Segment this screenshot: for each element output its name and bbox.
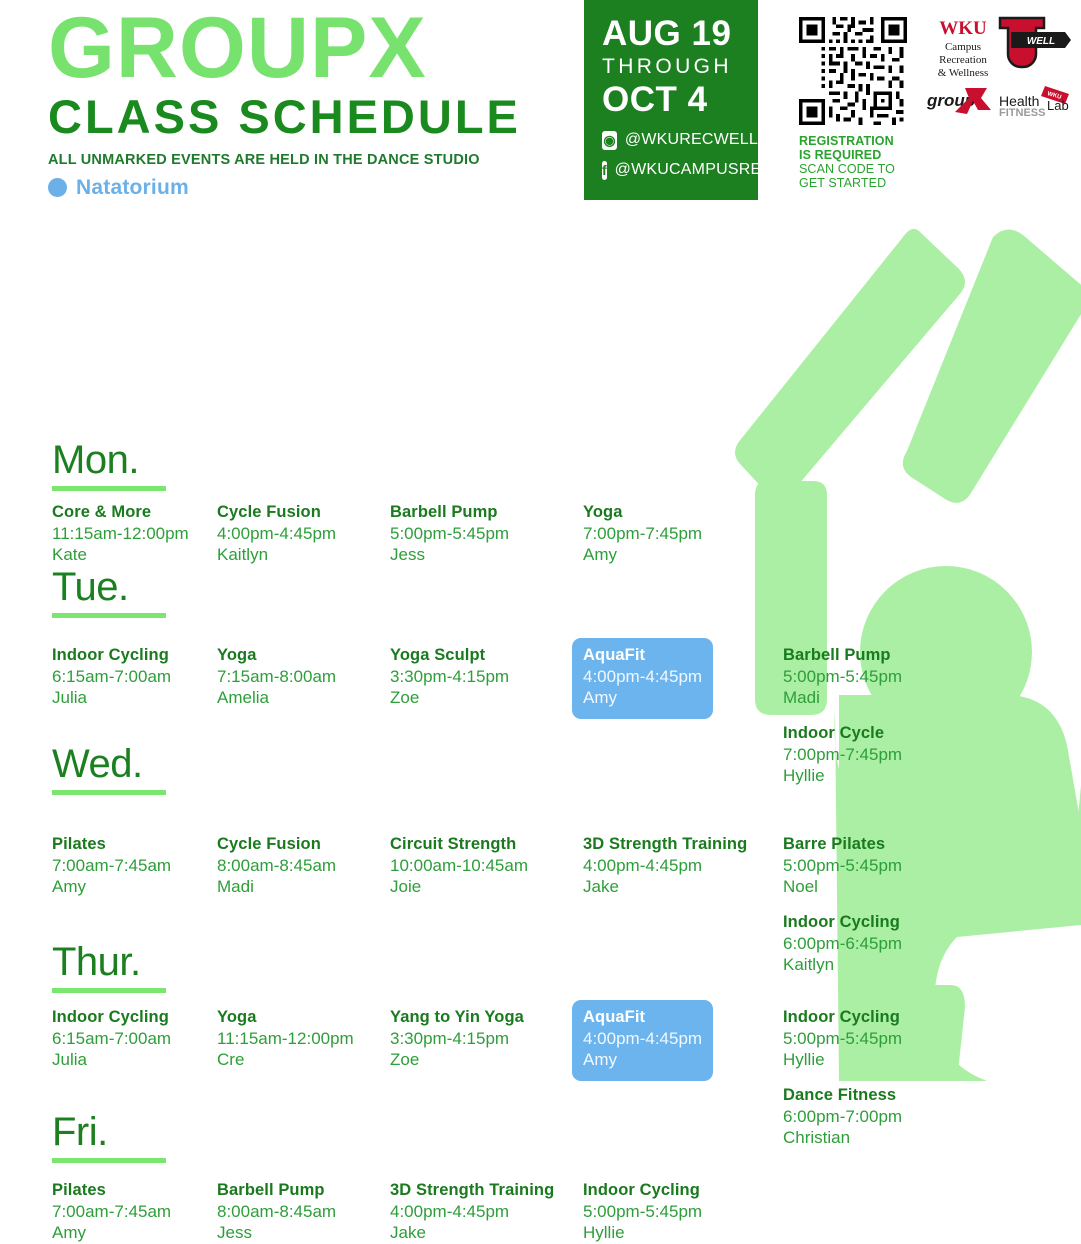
- facebook-handle: @WKUCAMPUSREC: [615, 161, 773, 179]
- class-name: Yoga Sculpt: [390, 645, 509, 666]
- class-instructor: Madi: [783, 687, 902, 709]
- class-name: Indoor Cycle: [783, 723, 902, 744]
- class-cell[interactable]: AquaFit4:00pm-4:45pmAmy: [572, 638, 713, 719]
- natatorium-dot-icon: [48, 178, 67, 197]
- poster-header: GROUPX CLASS SCHEDULE ALL UNMARKED EVENT…: [0, 0, 1081, 212]
- class-name: Yoga: [217, 645, 336, 666]
- class-instructor: Hyllie: [783, 765, 902, 787]
- class-name: Core & More: [52, 502, 189, 523]
- legend: Natatorium: [48, 176, 521, 200]
- class-time: 5:00pm-5:45pm: [583, 1201, 702, 1223]
- day-heading: Mon.: [52, 440, 166, 480]
- class-instructor: Hyllie: [583, 1222, 702, 1244]
- class-instructor: Amelia: [217, 687, 336, 709]
- class-time: 4:00pm-4:45pm: [583, 1028, 702, 1050]
- class-name: Indoor Cycling: [52, 1007, 171, 1028]
- class-instructor: Cre: [217, 1049, 354, 1071]
- day-block-tue: Tue.: [52, 567, 166, 618]
- class-time: 5:00pm-5:45pm: [783, 1028, 902, 1050]
- class-instructor: Hyllie: [783, 1049, 902, 1071]
- svg-text:Lab: Lab: [1047, 98, 1069, 113]
- class-time: 4:00pm-4:45pm: [583, 855, 747, 877]
- class-name: Cycle Fusion: [217, 502, 336, 523]
- class-instructor: Zoe: [390, 687, 509, 709]
- class-time: 6:15am-7:00am: [52, 666, 171, 688]
- class-cell[interactable]: Cycle Fusion4:00pm-4:45pmKaitlyn: [217, 502, 336, 566]
- day-heading: Tue.: [52, 567, 166, 607]
- class-time: 3:30pm-4:15pm: [390, 1028, 524, 1050]
- class-name: Indoor Cycling: [783, 1007, 902, 1028]
- class-time: 11:15am-12:00pm: [217, 1028, 354, 1050]
- svg-text:WKU: WKU: [939, 18, 987, 39]
- class-name: 3D Strength Training: [583, 834, 747, 855]
- qr-registration-block[interactable]: REGISTRATION IS REQUIRED SCAN CODE TO GE…: [799, 16, 909, 190]
- class-instructor: Amy: [583, 687, 702, 709]
- class-name: Barre Pilates: [783, 834, 902, 855]
- class-time: 11:15am-12:00pm: [52, 523, 189, 545]
- day-block-thur: Thur.: [52, 942, 166, 993]
- class-cell[interactable]: 3D Strength Training4:00pm-4:45pmJake: [390, 1180, 554, 1244]
- page-subtitle: CLASS SCHEDULE: [48, 92, 521, 141]
- class-cell[interactable]: Barbell Pump5:00pm-5:45pmMadi: [783, 645, 902, 709]
- class-time: 8:00am-8:45am: [217, 855, 336, 877]
- social-row-facebook[interactable]: f @WKUCAMPUSREC: [602, 161, 758, 180]
- class-cell[interactable]: Indoor Cycling5:00pm-5:45pmHyllie: [583, 1180, 702, 1244]
- class-instructor: Julia: [52, 687, 171, 709]
- class-name: Barbell Pump: [217, 1180, 336, 1201]
- class-cell[interactable]: Core & More11:15am-12:00pmKate: [52, 502, 189, 566]
- class-instructor: Amy: [583, 1049, 702, 1071]
- class-name: Indoor Cycling: [783, 912, 902, 933]
- class-name: Indoor Cycling: [583, 1180, 702, 1201]
- class-cell[interactable]: Cycle Fusion8:00am-8:45amMadi: [217, 834, 336, 898]
- class-cell[interactable]: Yoga7:15am-8:00amAmelia: [217, 645, 336, 709]
- class-time: 7:00am-7:45am: [52, 855, 171, 877]
- day-block-mon: Mon.: [52, 440, 166, 491]
- qr-line-2: IS REQUIRED: [799, 148, 909, 162]
- day-heading: Fri.: [52, 1112, 166, 1152]
- partner-logos: WKU Campus Recreation & Wellness WELL gr…: [925, 12, 1075, 132]
- svg-text:& Wellness: & Wellness: [938, 67, 989, 79]
- day-underline: [52, 790, 166, 795]
- class-time: 8:00am-8:45am: [217, 1201, 336, 1223]
- class-cell[interactable]: Barbell Pump5:00pm-5:45pmJess: [390, 502, 509, 566]
- day-block-fri: Fri.: [52, 1112, 166, 1163]
- class-time: 6:00pm-7:00pm: [783, 1106, 902, 1128]
- class-cell[interactable]: Dance Fitness6:00pm-7:00pmChristian: [783, 1085, 902, 1149]
- class-time: 6:00pm-6:45pm: [783, 933, 902, 955]
- class-name: Yang to Yin Yoga: [390, 1007, 524, 1028]
- svg-text:FITNESS: FITNESS: [999, 107, 1045, 119]
- location-note: ALL UNMARKED EVENTS ARE HELD IN THE DANC…: [48, 152, 521, 168]
- class-cell[interactable]: Barbell Pump8:00am-8:45amJess: [217, 1180, 336, 1244]
- class-cell[interactable]: 3D Strength Training4:00pm-4:45pmJake: [583, 834, 747, 898]
- class-instructor: Jake: [390, 1222, 554, 1244]
- qr-line-4: GET STARTED: [799, 176, 909, 190]
- class-name: Dance Fitness: [783, 1085, 902, 1106]
- legend-label-natatorium: Natatorium: [76, 176, 189, 200]
- class-name: Yoga: [583, 502, 702, 523]
- class-name: Indoor Cycling: [52, 645, 171, 666]
- class-instructor: Jess: [217, 1222, 336, 1244]
- class-instructor: Jess: [390, 544, 509, 566]
- date-range-through: THROUGH: [602, 53, 758, 81]
- class-cell[interactable]: Indoor Cycling6:15am-7:00amJulia: [52, 1007, 171, 1071]
- class-cell[interactable]: Indoor Cycling5:00pm-5:45pmHyllie: [783, 1007, 902, 1071]
- class-time: 5:00pm-5:45pm: [783, 666, 902, 688]
- qr-instructions: REGISTRATION IS REQUIRED SCAN CODE TO GE…: [799, 134, 909, 190]
- class-time: 3:30pm-4:15pm: [390, 666, 509, 688]
- day-underline: [52, 1158, 166, 1163]
- class-cell[interactable]: Yoga11:15am-12:00pmCre: [217, 1007, 354, 1071]
- class-time: 4:00pm-4:45pm: [217, 523, 336, 545]
- class-name: AquaFit: [583, 645, 702, 666]
- instagram-handle: @WKURECWELL: [625, 131, 758, 149]
- class-cell[interactable]: Pilates7:00am-7:45amAmy: [52, 834, 171, 898]
- qr-line-1: REGISTRATION: [799, 134, 909, 148]
- class-name: Barbell Pump: [783, 645, 902, 666]
- class-cell[interactable]: Yoga Sculpt3:30pm-4:15pmZoe: [390, 645, 509, 709]
- class-instructor: Joie: [390, 876, 528, 898]
- class-name: Barbell Pump: [390, 502, 509, 523]
- class-instructor: Christian: [783, 1127, 902, 1149]
- class-time: 7:00am-7:45am: [52, 1201, 171, 1223]
- date-range-end: OCT 4: [602, 81, 758, 120]
- class-name: Yoga: [217, 1007, 354, 1028]
- facebook-icon: f: [602, 161, 607, 180]
- class-time: 7:00pm-7:45pm: [583, 523, 702, 545]
- class-instructor: Amy: [52, 876, 171, 898]
- title-block: GROUPX CLASS SCHEDULE ALL UNMARKED EVENT…: [48, 6, 521, 200]
- class-time: 7:15am-8:00am: [217, 666, 336, 688]
- svg-text:Campus: Campus: [945, 41, 981, 53]
- social-row-instagram[interactable]: ◉ @WKURECWELL: [602, 131, 758, 150]
- class-name: Pilates: [52, 834, 171, 855]
- page-title: GROUPX: [48, 6, 521, 90]
- day-heading: Thur.: [52, 942, 166, 982]
- class-instructor: Amy: [52, 1222, 171, 1244]
- class-instructor: Noel: [783, 876, 902, 898]
- day-block-wed: Wed.: [52, 744, 166, 795]
- day-underline: [52, 613, 166, 618]
- class-instructor: Jake: [583, 876, 747, 898]
- day-heading: Wed.: [52, 744, 166, 784]
- class-name: Cycle Fusion: [217, 834, 336, 855]
- class-cell[interactable]: AquaFit4:00pm-4:45pmAmy: [572, 1000, 713, 1081]
- class-instructor: Zoe: [390, 1049, 524, 1071]
- date-range-start: AUG 19: [602, 16, 758, 53]
- qr-code-icon[interactable]: [799, 16, 907, 126]
- class-cell[interactable]: Indoor Cycling6:00pm-6:45pmKaitlyn: [783, 912, 902, 976]
- svg-text:Recreation: Recreation: [939, 54, 987, 66]
- class-cell[interactable]: Barre Pilates5:00pm-5:45pmNoel: [783, 834, 902, 898]
- class-instructor: Kate: [52, 544, 189, 566]
- class-name: AquaFit: [583, 1007, 702, 1028]
- class-time: 4:00pm-4:45pm: [390, 1201, 554, 1223]
- class-name: Circuit Strength: [390, 834, 528, 855]
- svg-text:WELL: WELL: [1027, 36, 1055, 47]
- class-instructor: Julia: [52, 1049, 171, 1071]
- class-time: 5:00pm-5:45pm: [390, 523, 509, 545]
- class-cell[interactable]: Indoor Cycling6:15am-7:00amJulia: [52, 645, 171, 709]
- class-cell[interactable]: Pilates7:00am-7:45amAmy: [52, 1180, 171, 1244]
- class-instructor: Kaitlyn: [783, 954, 902, 976]
- class-cell[interactable]: Indoor Cycle7:00pm-7:45pmHyllie: [783, 723, 902, 787]
- qr-line-3: SCAN CODE TO: [799, 162, 909, 176]
- class-name: 3D Strength Training: [390, 1180, 554, 1201]
- class-time: 6:15am-7:00am: [52, 1028, 171, 1050]
- class-cell[interactable]: Yoga7:00pm-7:45pmAmy: [583, 502, 702, 566]
- class-time: 5:00pm-5:45pm: [783, 855, 902, 877]
- class-instructor: Kaitlyn: [217, 544, 336, 566]
- class-instructor: Amy: [583, 544, 702, 566]
- class-name: Pilates: [52, 1180, 171, 1201]
- class-time: 4:00pm-4:45pm: [583, 666, 702, 688]
- instagram-icon: ◉: [602, 131, 617, 150]
- date-range-box: AUG 19 THROUGH OCT 4 ◉ @WKURECWELL f @WK…: [584, 0, 758, 200]
- class-cell[interactable]: Yang to Yin Yoga3:30pm-4:15pmZoe: [390, 1007, 524, 1071]
- class-time: 7:00pm-7:45pm: [783, 744, 902, 766]
- day-underline: [52, 486, 166, 491]
- class-time: 10:00am-10:45am: [390, 855, 528, 877]
- day-underline: [52, 988, 166, 993]
- class-cell[interactable]: Circuit Strength10:00am-10:45amJoie: [390, 834, 528, 898]
- class-instructor: Madi: [217, 876, 336, 898]
